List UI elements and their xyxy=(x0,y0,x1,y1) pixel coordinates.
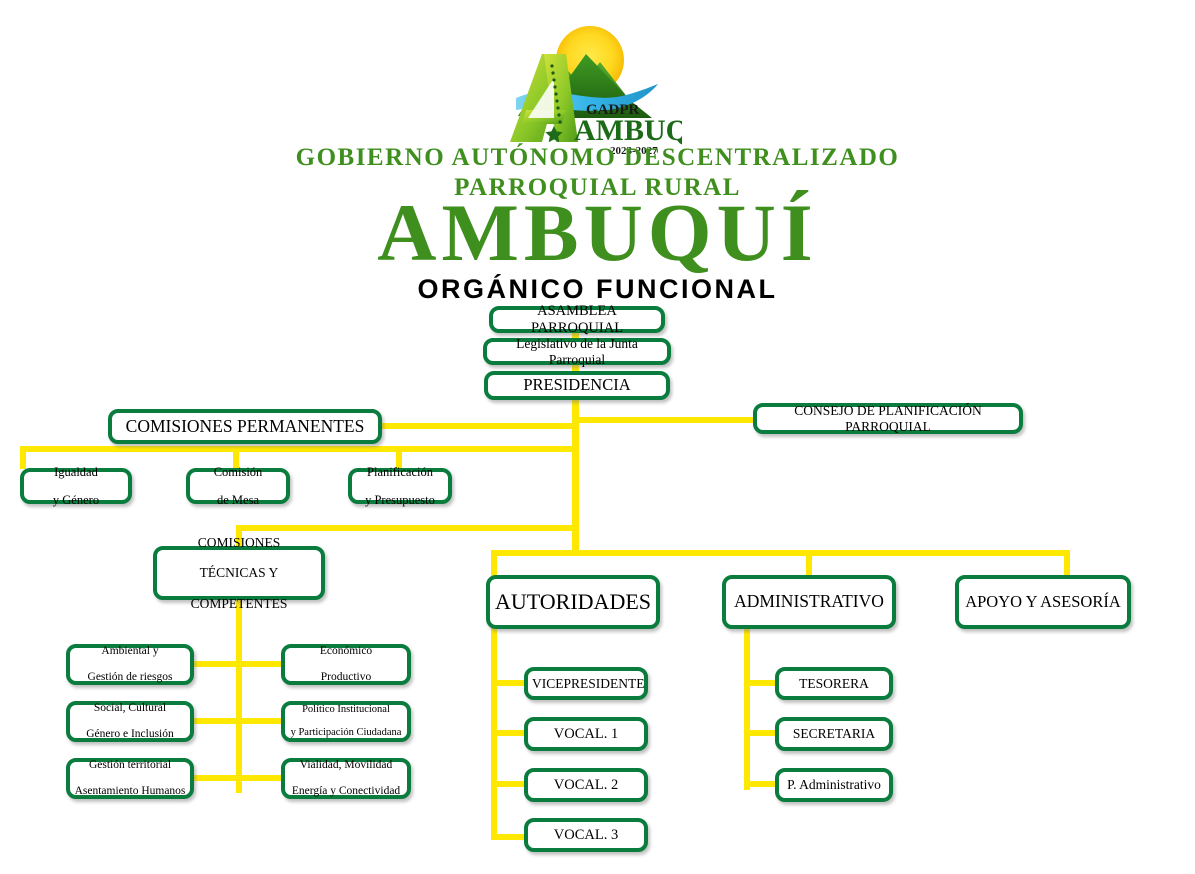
node-label: Social, Cultural Género e Inclusión xyxy=(74,702,186,741)
connector-to-comisiones-permanentes xyxy=(381,423,576,429)
logo-wordmark: AMBUQUÍ xyxy=(574,114,682,147)
node-label-line1: Ambiental y xyxy=(74,645,186,658)
node-comisiones-tecnicas[interactable]: COMISIONES TÉCNICAS Y COMPETENTES xyxy=(153,546,325,600)
node-label-line2: y Presupuesto xyxy=(356,493,444,507)
node-label-line2: Gestión de riesgos xyxy=(74,671,186,684)
node-label: Comisión de Mesa xyxy=(194,465,282,507)
node-label: Económico Productivo xyxy=(289,645,403,684)
node-label-line2: Energía y Conectividad xyxy=(289,785,403,798)
node-label-line1: Planificación xyxy=(356,465,444,479)
node-label: VOCAL. 1 xyxy=(532,726,640,742)
node-vicepresidente[interactable]: VICEPRESIDENTE xyxy=(524,667,648,700)
connector-departments-bus xyxy=(491,550,1070,556)
org-name-heading: AMBUQUÍ xyxy=(0,192,1195,274)
node-label-line2: Productivo xyxy=(289,671,403,684)
node-label: APOYO Y ASESORÍA xyxy=(963,593,1123,611)
node-label: AUTORIDADES xyxy=(494,590,652,615)
node-vocal-3[interactable]: VOCAL. 3 xyxy=(524,818,648,852)
node-label-line1: Social, Cultural xyxy=(74,702,186,715)
node-label: Legislativo de la Junta Parroquial xyxy=(491,336,663,366)
node-label: ADMINISTRATIVO xyxy=(730,592,888,612)
org-heading-line1: GOBIERNO AUTÓNOMO DESCENTRALIZADO xyxy=(0,144,1195,172)
node-vocal-2[interactable]: VOCAL. 2 xyxy=(524,768,648,802)
node-legislativo-junta[interactable]: Legislativo de la Junta Parroquial xyxy=(483,338,671,365)
node-label-line2: TÉCNICAS Y xyxy=(161,565,317,580)
node-p-administrativo[interactable]: P. Administrativo xyxy=(775,768,893,802)
node-igualdad-genero[interactable]: Igualdad y Género xyxy=(20,468,132,504)
node-vialidad-movilidad-energia-conectividad[interactable]: Vialidad, Movilidad Energía y Conectivid… xyxy=(281,758,411,799)
node-label-line2: y Género xyxy=(28,493,124,507)
node-administrativo[interactable]: ADMINISTRATIVO xyxy=(722,575,896,629)
node-asamblea-parroquial[interactable]: ASAMBLEA PARROQUIAL xyxy=(489,306,665,333)
connector-department-drop-administrativo xyxy=(806,550,812,576)
node-label-line2: de Mesa xyxy=(194,493,282,507)
node-comision-mesa[interactable]: Comisión de Mesa xyxy=(186,468,290,504)
node-label: VOCAL. 3 xyxy=(532,827,640,843)
node-label-line2: y Participación Ciudadana xyxy=(289,727,403,739)
node-label: Gestión territorial Asentamiento Humanos xyxy=(74,759,186,798)
connector-administrativo-spine xyxy=(744,628,750,790)
node-politico-institucional-participacion[interactable]: Político Institucional y Participación C… xyxy=(281,701,411,742)
node-vocal-1[interactable]: VOCAL. 1 xyxy=(524,717,648,751)
node-label: VOCAL. 2 xyxy=(532,777,640,793)
connector-department-drop-apoyo xyxy=(1064,550,1070,576)
node-label: VICEPRESIDENTE xyxy=(532,676,640,691)
node-label: ASAMBLEA PARROQUIAL xyxy=(497,303,657,335)
node-economico-productivo[interactable]: Económico Productivo xyxy=(281,644,411,685)
node-label: Vialidad, Movilidad Energía y Conectivid… xyxy=(289,759,403,798)
node-label-line3: COMPETENTES xyxy=(161,596,317,611)
node-tesorera[interactable]: TESORERA xyxy=(775,667,893,700)
node-presidencia[interactable]: PRESIDENCIA xyxy=(484,371,670,400)
connector-permanentes-bus xyxy=(20,446,577,452)
node-label: CONSEJO DE PLANIFICACIÓN PARROQUIAL xyxy=(761,403,1015,433)
node-label-line1: Vialidad, Movilidad xyxy=(289,759,403,772)
node-label-line2: Género e Inclusión xyxy=(74,728,186,741)
node-ambiental-gestion-riesgos[interactable]: Ambiental y Gestión de riesgos xyxy=(66,644,194,685)
node-planificacion-presupuesto[interactable]: Planificación y Presupuesto xyxy=(348,468,452,504)
node-label-line1: Comisión xyxy=(194,465,282,479)
logo-graphic: GADPR AMBUQUÍ 2023-2027 xyxy=(482,18,682,158)
node-consejo-planificacion[interactable]: CONSEJO DE PLANIFICACIÓN PARROQUIAL xyxy=(753,403,1023,434)
node-label: SECRETARIA xyxy=(783,726,885,741)
node-apoyo-asesoria[interactable]: APOYO Y ASESORÍA xyxy=(955,575,1131,629)
node-autoridades[interactable]: AUTORIDADES xyxy=(486,575,660,629)
node-label-line1: Económico xyxy=(289,645,403,658)
node-label: Político Institucional y Participación C… xyxy=(289,704,403,739)
connector-to-comisiones-tecnicas-bus xyxy=(236,525,577,531)
organigrama-page: GADPR AMBUQUÍ 2023-2027 GOBIERNO AUTÓNOM… xyxy=(0,0,1195,874)
node-label-line2: Asentamiento Humanos xyxy=(74,785,186,798)
node-label: Planificación y Presupuesto xyxy=(356,465,444,507)
node-label: Igualdad y Género xyxy=(28,465,124,507)
node-social-cultural-genero-inclusion[interactable]: Social, Cultural Género e Inclusión xyxy=(66,701,194,742)
connector-to-consejo-planificacion xyxy=(576,417,754,423)
node-label: COMISIONES PERMANENTES xyxy=(116,417,374,437)
node-label: Ambiental y Gestión de riesgos xyxy=(74,645,186,684)
connector-department-drop-autoridades xyxy=(491,550,497,576)
node-label-line1: Igualdad xyxy=(28,465,124,479)
node-label-line1: Gestión territorial xyxy=(74,759,186,772)
node-secretaria[interactable]: SECRETARIA xyxy=(775,717,893,751)
node-label-line1: Político Institucional xyxy=(289,704,403,716)
node-label: PRESIDENCIA xyxy=(492,376,662,394)
node-comisiones-permanentes[interactable]: COMISIONES PERMANENTES xyxy=(108,409,382,444)
document-title: ORGÁNICO FUNCIONAL xyxy=(0,274,1195,305)
node-label: TESORERA xyxy=(783,676,885,691)
connector-tecnicas-spine xyxy=(236,596,242,793)
node-label: P. Administrativo xyxy=(783,777,885,792)
node-gestion-territorial-asentamiento-humanos[interactable]: Gestión territorial Asentamiento Humanos xyxy=(66,758,194,799)
gadpr-ambuqui-logo: GADPR AMBUQUÍ 2023-2027 xyxy=(482,18,682,158)
node-label: COMISIONES TÉCNICAS Y COMPETENTES xyxy=(161,535,317,611)
connector-permanentes-drop-1 xyxy=(20,446,26,469)
node-label-line1: COMISIONES xyxy=(161,535,317,550)
